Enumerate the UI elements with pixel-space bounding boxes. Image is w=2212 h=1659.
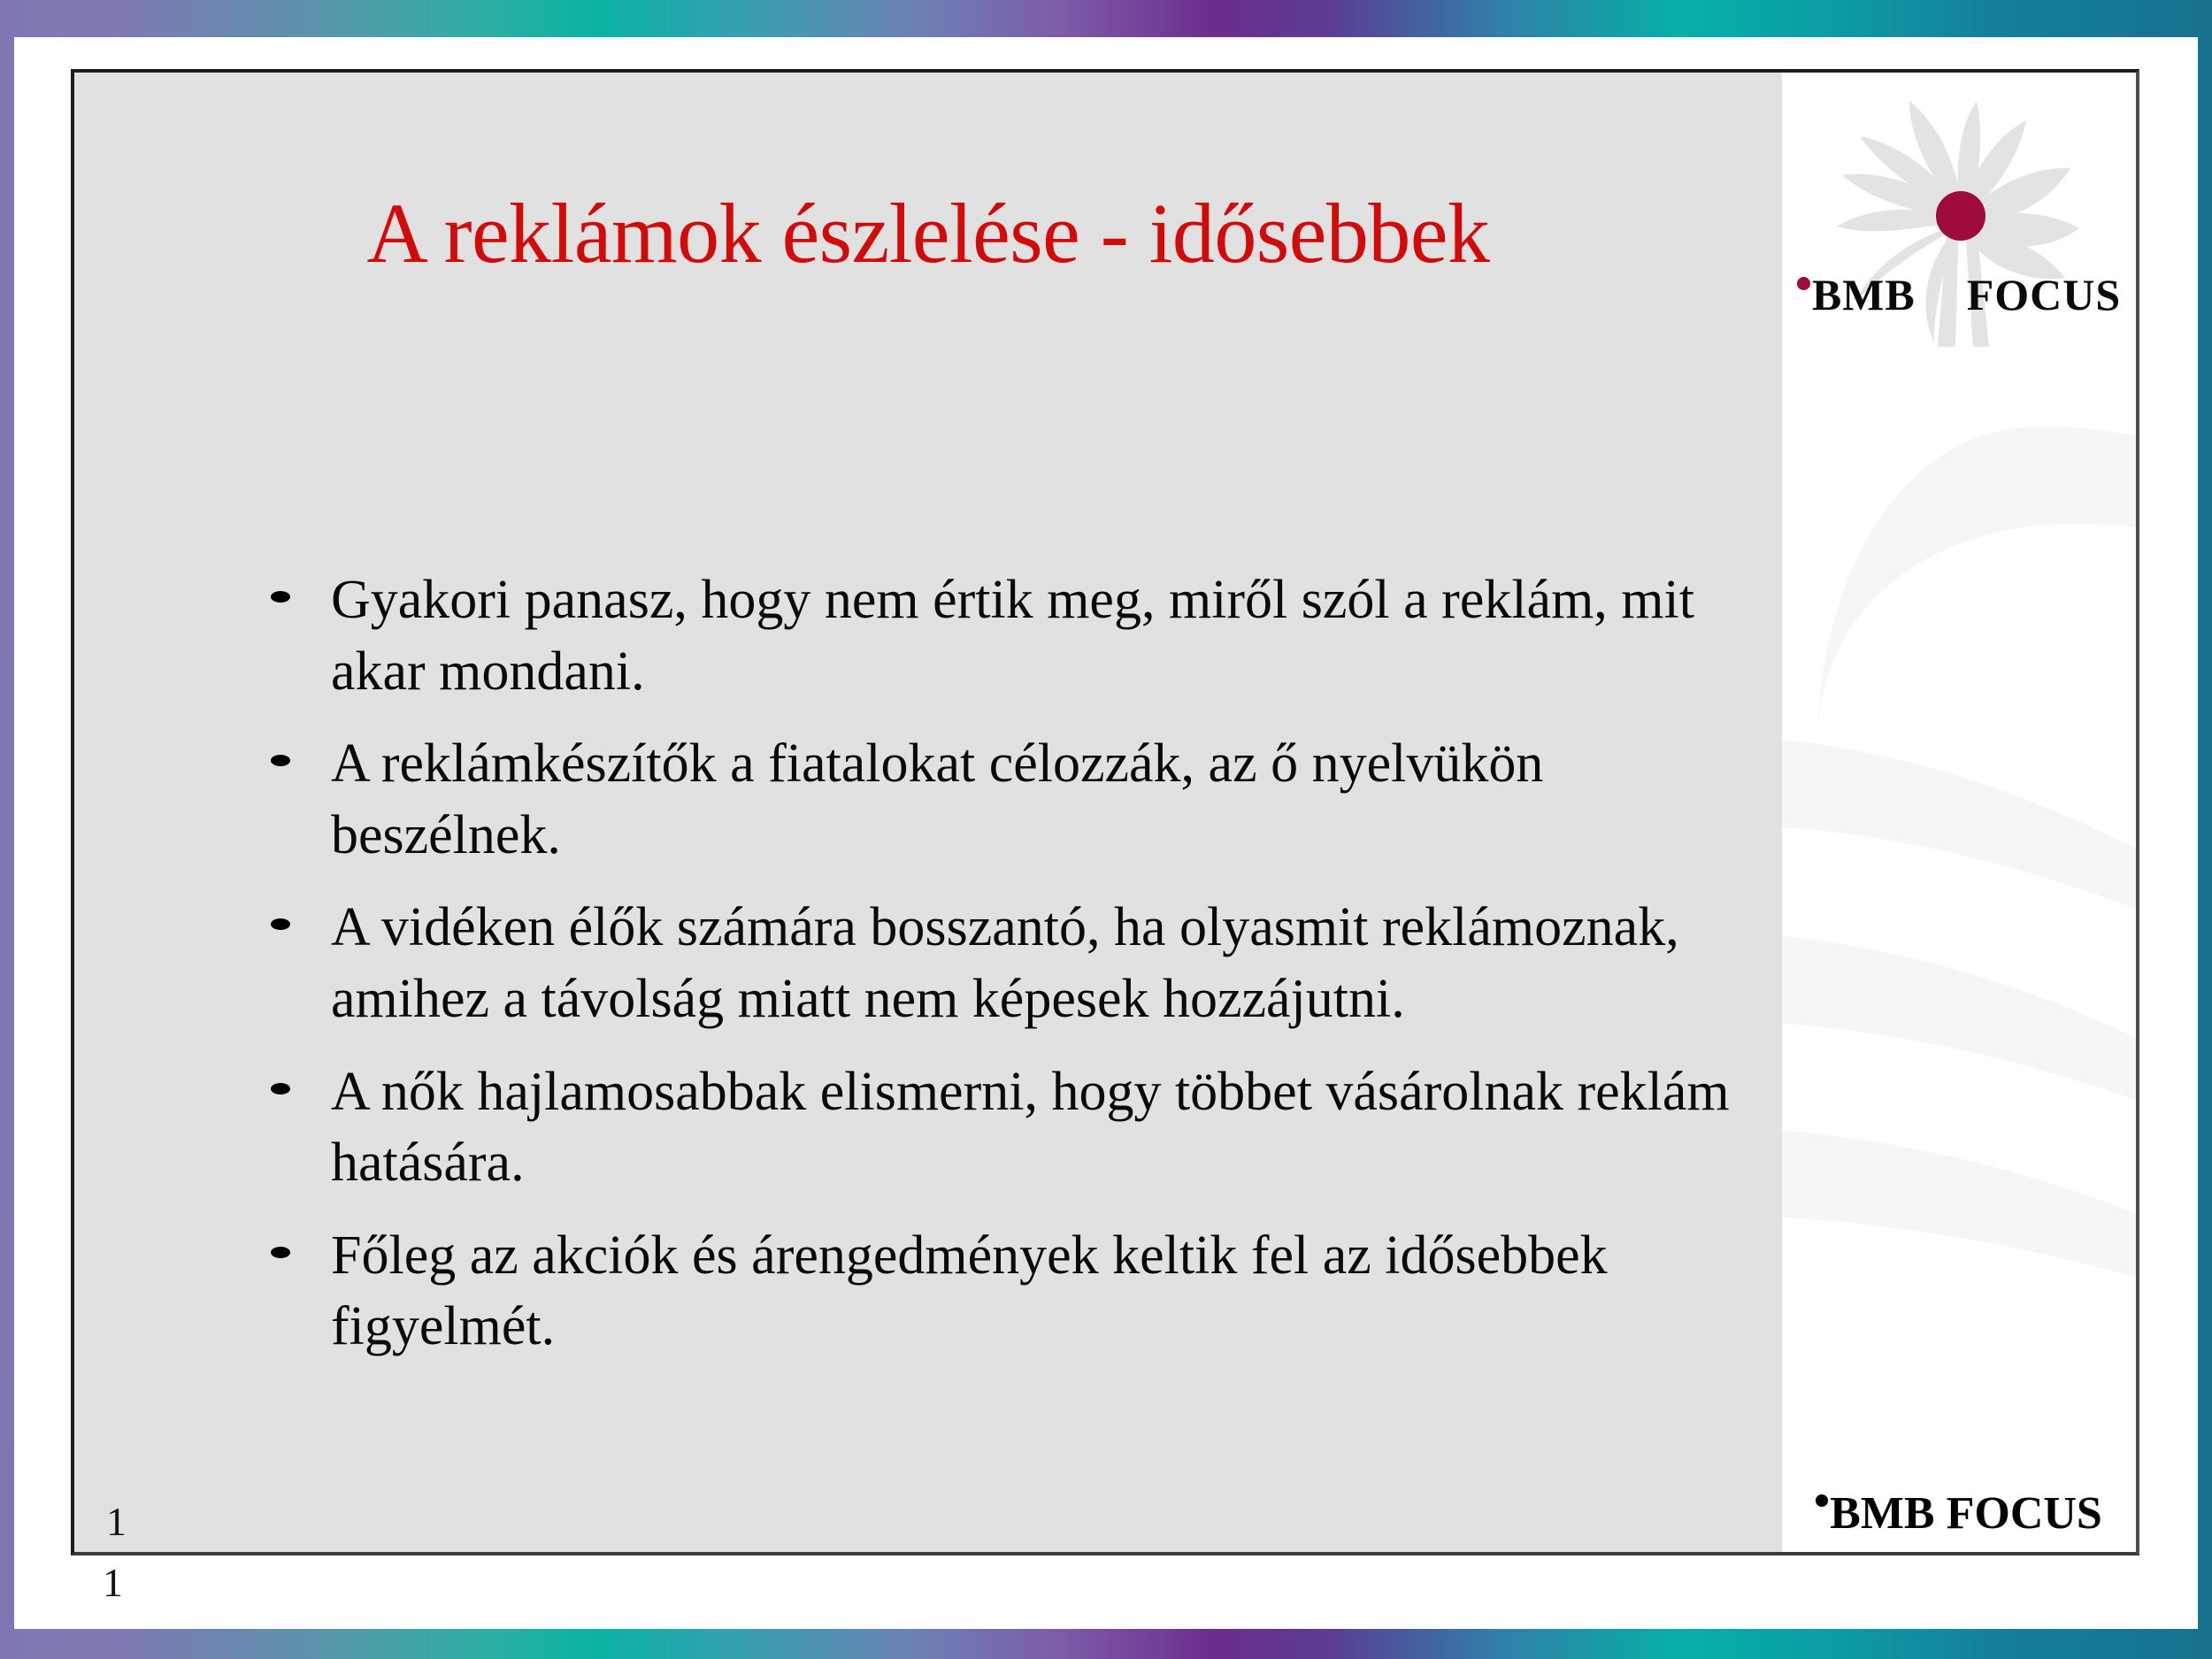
logo-wordmark-bmb: BMB	[1812, 270, 1916, 319]
bullet-dot-icon	[271, 918, 290, 930]
gradient-border-left	[0, 0, 14, 1659]
slide-frame: A reklámok észlelése - idősebbek Gyakori…	[71, 69, 2139, 1555]
footer-wordmark-text: BMB FOCUS	[1830, 1488, 2102, 1539]
page-number-outer: 1	[103, 1559, 123, 1606]
bullet-dot-icon	[271, 1247, 290, 1258]
logo-wordmark-focus: FOCUS	[1967, 270, 2121, 319]
bullet-text: Főleg az akciók és árengedmények keltik …	[331, 1225, 1608, 1357]
gradient-border-right	[2198, 0, 2212, 1659]
slide-title: A reklámok észlelése - idősebbek	[74, 189, 1782, 279]
gradient-border-bottom	[0, 1629, 2212, 1659]
bullet-item: A nők hajlamosabbak elismerni, hogy több…	[248, 1056, 1734, 1199]
slide-page: A reklámok észlelése - idősebbek Gyakori…	[0, 0, 2212, 1659]
bullet-dot-icon	[271, 755, 290, 766]
logo-dot-icon	[1797, 277, 1810, 290]
bullet-item: A reklámkészítők a fiatalokat célozzák, …	[248, 728, 1734, 871]
background-watermark-icon	[1782, 365, 2136, 1338]
logo-wordmark: BMBFOCUS	[1782, 269, 2136, 320]
footer-wordmark: BMB FOCUS	[1782, 1487, 2136, 1540]
bullet-text: A vidéken élők számára bosszantó, ha oly…	[331, 897, 1679, 1029]
bullet-item: Főleg az akciók és árengedmények keltik …	[248, 1220, 1734, 1363]
bullet-text: A reklámkészítők a fiatalokat célozzák, …	[331, 733, 1543, 865]
footer-dot-icon	[1816, 1494, 1828, 1507]
bullet-text: Gyakori panasz, hogy nem értik meg, mirő…	[331, 570, 1694, 702]
gradient-border-top	[0, 0, 2212, 37]
bullet-list: Gyakori panasz, hogy nem értik meg, mirő…	[248, 565, 1734, 1363]
bullet-item: Gyakori panasz, hogy nem értik meg, mirő…	[248, 565, 1734, 707]
slide-content-pane: A reklámok észlelése - idősebbek Gyakori…	[74, 73, 1782, 1552]
bullet-item: A vidéken élők számára bosszantó, ha oly…	[248, 892, 1734, 1034]
page-number-inner: 1	[106, 1498, 127, 1545]
slide-logo-pane: BMBFOCUS BMB FOCUS	[1782, 73, 2136, 1552]
bullet-dot-icon	[271, 591, 290, 603]
bullet-dot-icon	[271, 1083, 290, 1094]
bullet-text: A nők hajlamosabbak elismerni, hogy több…	[331, 1062, 1730, 1194]
